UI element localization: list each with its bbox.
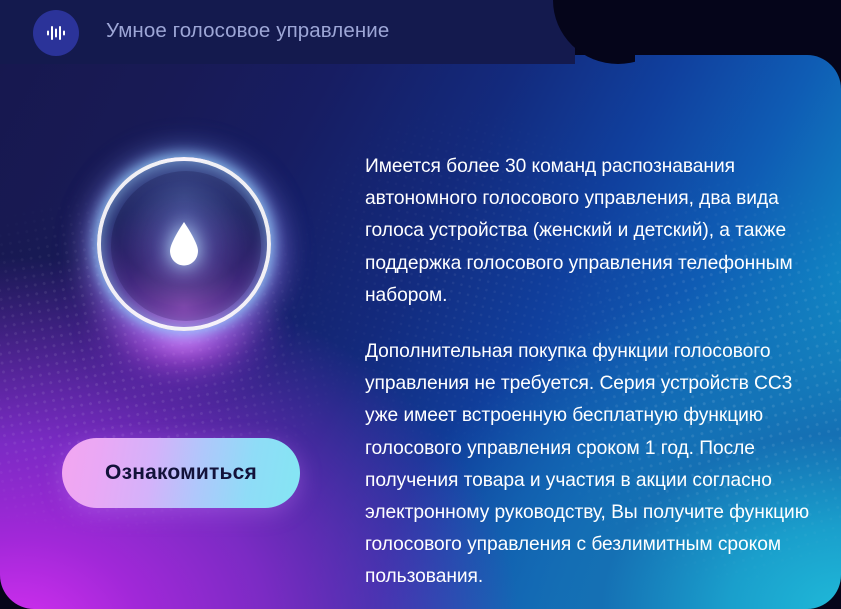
ring-outer-circle (97, 157, 271, 331)
paragraph-2: Дополнительная покупка функции голосовог… (365, 336, 815, 594)
voice-assistant-pin-icon (167, 221, 201, 267)
feature-card: Ознакомиться Имеется более 30 команд рас… (0, 55, 841, 609)
description-block: Имеется более 30 команд распознавания ав… (365, 151, 815, 594)
page-title: Умное голосовое управление (106, 19, 389, 43)
voice-waveform-icon (33, 10, 79, 56)
learn-more-button[interactable]: Ознакомиться (62, 438, 300, 508)
voice-control-card-root: Ознакомиться Имеется более 30 команд рас… (0, 0, 841, 609)
header-curve-notch (515, 0, 635, 64)
paragraph-1: Имеется более 30 команд распознавания ав… (365, 151, 815, 312)
voice-ring-illustration (97, 157, 271, 331)
